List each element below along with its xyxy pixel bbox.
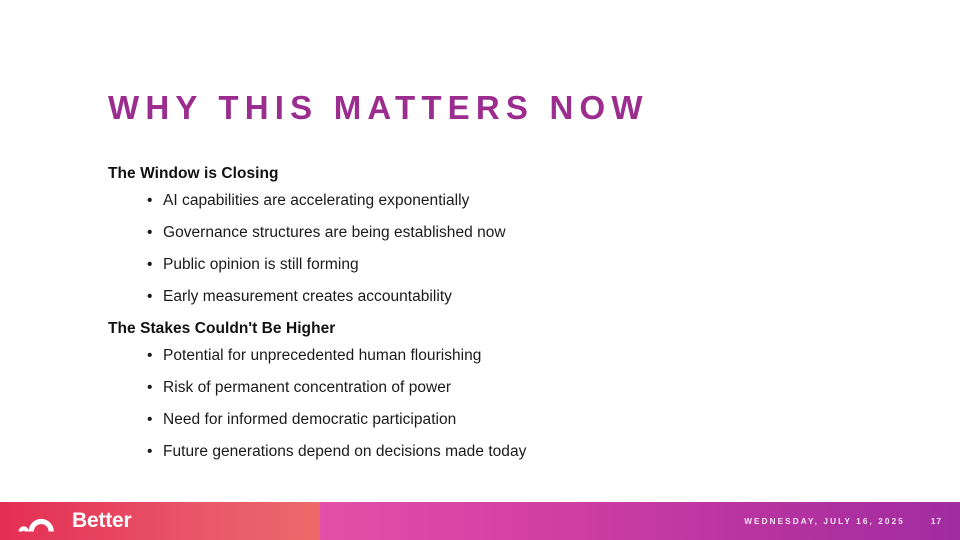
list-item-label: Need for informed democratic participati…	[163, 411, 456, 428]
bullet-dot-icon: •	[147, 289, 152, 305]
brand-logo: Better	[14, 502, 131, 540]
list-item: • AI capabilities are accelerating expon…	[108, 193, 848, 209]
arch-hill-logo-icon	[14, 510, 64, 532]
page-title: WHY THIS MATTERS NOW	[108, 88, 649, 128]
section-heading: The Window is Closing	[108, 166, 848, 182]
bullet-dot-icon: •	[147, 380, 152, 396]
section-heading: The Stakes Couldn't Be Higher	[108, 321, 848, 337]
list-item: • Potential for unprecedented human flou…	[108, 348, 848, 364]
list-item-label: Early measurement creates accountability	[163, 288, 452, 305]
presentation-slide: WHY THIS MATTERS NOW The Window is Closi…	[0, 0, 960, 540]
bullet-dot-icon: •	[147, 444, 152, 460]
bullet-list: • AI capabilities are accelerating expon…	[108, 193, 848, 305]
list-item-label: Future generations depend on decisions m…	[163, 443, 526, 460]
bullet-list: • Potential for unprecedented human flou…	[108, 348, 848, 460]
slide-page-number: 17	[931, 517, 942, 526]
list-item: • Need for informed democratic participa…	[108, 412, 848, 428]
list-item-label: Governance structures are being establis…	[163, 224, 506, 241]
brand-name: Better	[72, 510, 131, 531]
list-item: • Early measurement creates accountabili…	[108, 289, 848, 305]
list-item: • Governance structures are being establ…	[108, 225, 848, 241]
bullet-dot-icon: •	[147, 348, 152, 364]
bullet-dot-icon: •	[147, 193, 152, 209]
bullet-dot-icon: •	[147, 257, 152, 273]
content-section: The Stakes Couldn't Be Higher • Potentia…	[108, 321, 848, 459]
content-section: The Window is Closing • AI capabilities …	[108, 166, 848, 304]
list-item: • Public opinion is still forming	[108, 257, 848, 273]
list-item-label: Potential for unprecedented human flouri…	[163, 347, 481, 364]
list-item-label: Public opinion is still forming	[163, 256, 359, 273]
list-item: • Future generations depend on decisions…	[108, 444, 848, 460]
list-item-label: AI capabilities are accelerating exponen…	[163, 192, 469, 209]
slide-body: The Window is Closing • AI capabilities …	[108, 166, 848, 468]
bullet-dot-icon: •	[147, 412, 152, 428]
footer-meta: WEDNESDAY, JULY 16, 2025 17	[744, 502, 960, 540]
list-item-label: Risk of permanent concentration of power	[163, 379, 451, 396]
list-item: • Risk of permanent concentration of pow…	[108, 380, 848, 396]
slide-footer: Better WEDNESDAY, JULY 16, 2025 17	[0, 502, 960, 540]
bullet-dot-icon: •	[147, 225, 152, 241]
footer-date: WEDNESDAY, JULY 16, 2025	[744, 517, 905, 526]
